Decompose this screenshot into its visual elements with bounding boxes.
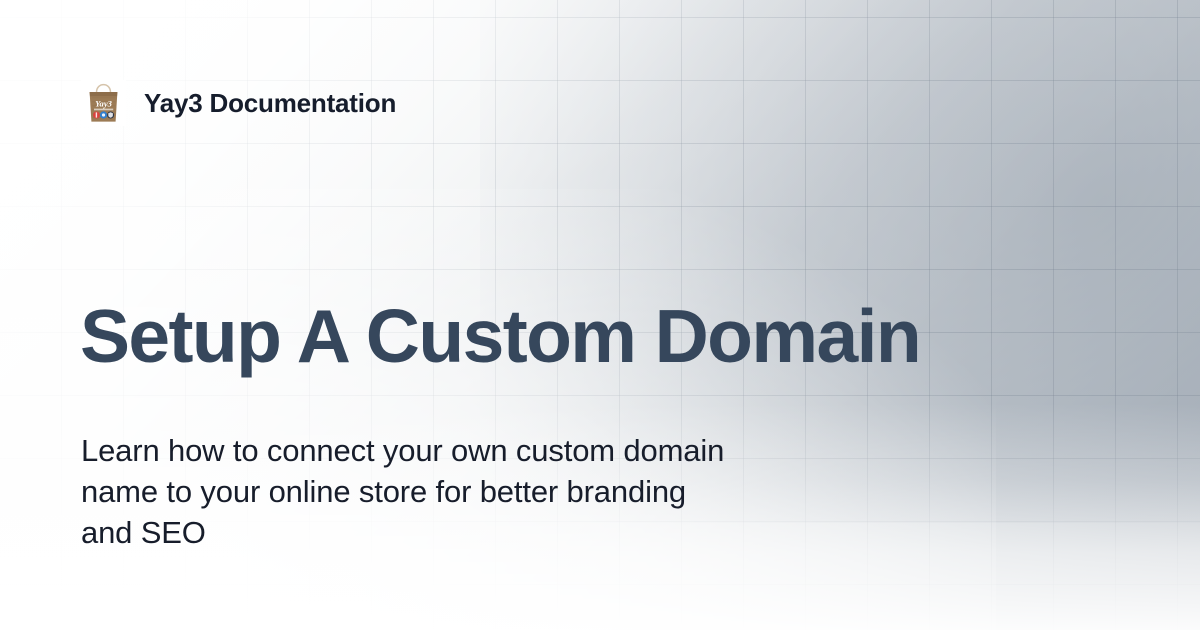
og-card: Yay3 Yay3 Documentation Setup A Custom D… [0,0,1200,630]
page-description: Learn how to connect your own custom dom… [81,430,881,553]
yay3-shopping-bag-logo-icon: Yay3 [81,80,126,126]
card-content: Yay3 Yay3 Documentation Setup A Custom D… [0,0,1200,630]
description-line: name to your online store for better bra… [81,471,881,512]
svg-text:Yay3: Yay3 [95,98,113,108]
brand-header: Yay3 Yay3 Documentation [81,80,396,126]
page-title: Setup A Custom Domain [80,297,1140,375]
brand-title: Yay3 Documentation [144,90,396,116]
description-line: and SEO [81,512,881,553]
description-line: Learn how to connect your own custom dom… [81,430,881,471]
